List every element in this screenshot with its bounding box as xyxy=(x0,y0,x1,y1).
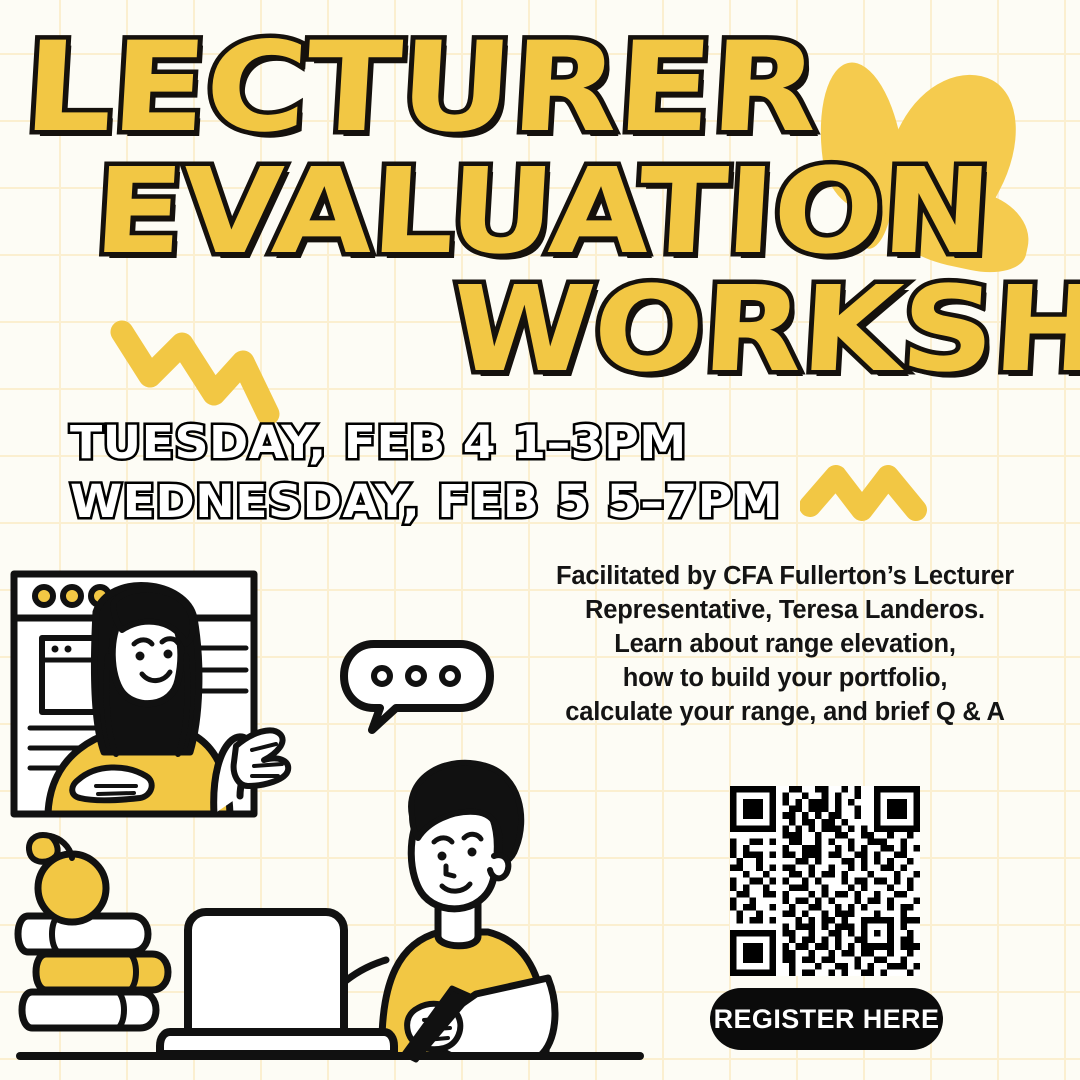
poster-canvas: LECTURER EVALUATION WORKSHOP TUESDAY, FE… xyxy=(0,0,1080,1080)
apple-icon xyxy=(29,835,106,922)
zigzag-squiggle-icon xyxy=(800,460,940,535)
register-here-button[interactable]: REGISTER HERE xyxy=(710,988,943,1050)
stack-of-books-icon xyxy=(18,916,168,1028)
title-line-2: EVALUATION xyxy=(91,152,993,270)
register-button-label: REGISTER HERE xyxy=(714,1004,940,1035)
date-line-2: WEDNESDAY, FEB 5 5–7PM xyxy=(70,472,780,531)
man-figure xyxy=(312,763,555,1060)
event-dates: TUESDAY, FEB 4 1–3PM WEDNESDAY, FEB 5 5–… xyxy=(70,413,747,532)
title-line-3: WORKSHOP xyxy=(448,270,1080,388)
title-line-1: LECTURER xyxy=(21,26,821,150)
qr-code[interactable] xyxy=(730,786,920,976)
illustration-group xyxy=(0,560,700,1080)
poster-title: LECTURER EVALUATION WORKSHOP xyxy=(0,0,1080,400)
date-line-1: TUESDAY, FEB 4 1–3PM xyxy=(70,413,780,472)
laptop-icon xyxy=(160,912,394,1054)
speech-bubble-icon xyxy=(344,644,490,730)
